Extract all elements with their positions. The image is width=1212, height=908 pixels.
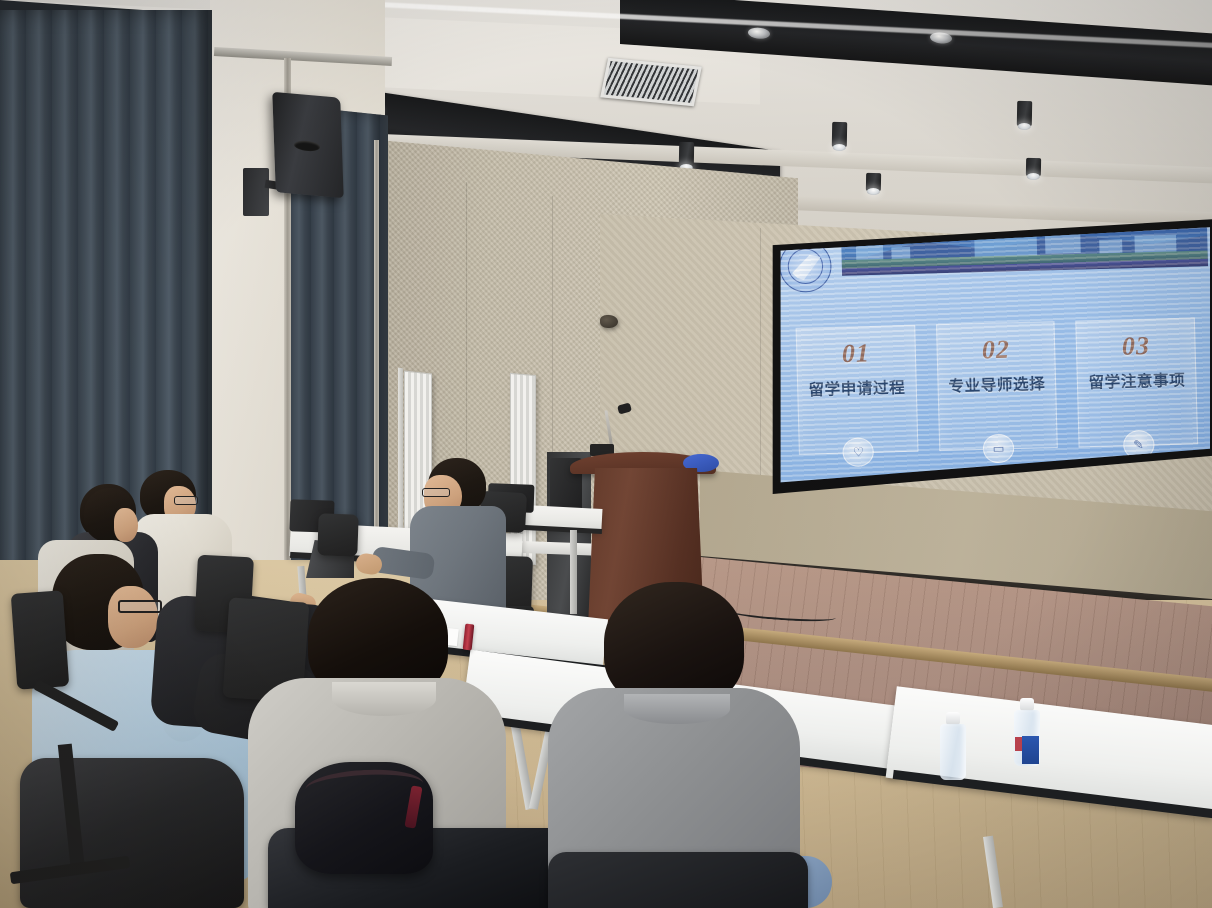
spotlight-icon	[832, 122, 847, 147]
agenda-card-number: 01	[797, 338, 915, 370]
agenda-card-badge-glyph: ▭	[992, 442, 1004, 455]
spotlight-icon	[679, 142, 694, 167]
glasses-icon	[422, 488, 450, 497]
face	[108, 586, 158, 648]
agenda-card-badge-glyph: ♡	[853, 446, 865, 459]
black-mesh-office-chair[interactable]	[317, 513, 358, 556]
black-mesh-office-chair-front[interactable]	[20, 758, 244, 908]
shield-check-icon: ♡	[843, 437, 875, 467]
air-vent-grille-icon	[600, 58, 702, 106]
wall-security-camera	[600, 315, 618, 328]
bottle-body	[1014, 710, 1040, 766]
black-mesh-office-chair-front[interactable]	[548, 852, 808, 908]
agenda-card-3[interactable]: 03 留学注意事项 ✎	[1076, 317, 1199, 447]
agenda-card-title: 专业导师选择	[938, 372, 1056, 397]
spotlight-icon	[1026, 158, 1041, 176]
bottle-label-accent	[1015, 737, 1022, 751]
speaker-mount-bracket	[243, 168, 269, 216]
building-shape	[1099, 239, 1122, 253]
table-leg	[570, 530, 577, 614]
agenda-card-number: 02	[937, 335, 1055, 367]
face	[114, 508, 138, 542]
agenda-card-badge-glyph: ✎	[1133, 438, 1144, 451]
black-mesh-office-chair[interactable]	[11, 590, 70, 689]
spotlight-icon	[866, 173, 881, 191]
conference-room-photo: 01 留学申请过程 ♡ 02 专业导师选择 ▭ 03 留学注意事项	[0, 0, 1212, 908]
spotlight-icon	[1017, 101, 1032, 126]
glasses-icon	[174, 496, 198, 505]
downlight-icon	[748, 27, 770, 40]
agenda-card-number: 03	[1077, 331, 1195, 363]
collar	[332, 682, 436, 716]
agenda-card-2[interactable]: 02 专业导师选择 ▭	[936, 321, 1059, 451]
building-shape	[1045, 234, 1081, 254]
agenda-card-title: 留学注意事项	[1078, 368, 1196, 393]
monitor-icon: ▭	[983, 434, 1015, 464]
glasses-icon	[118, 600, 162, 613]
bottle-body	[940, 724, 966, 780]
wall-mounted-loudspeaker	[272, 92, 343, 198]
agenda-card-1[interactable]: 01 留学申请过程 ♡	[796, 325, 919, 455]
emblem-swoosh-icon	[792, 254, 822, 280]
presentation-screen[interactable]: 01 留学申请过程 ♡ 02 专业导师选择 ▭ 03 留学注意事项	[778, 226, 1210, 485]
bottle-label	[1022, 736, 1039, 764]
agenda-card-title: 留学申请过程	[798, 376, 916, 401]
slide-agenda-cards: 01 留学申请过程 ♡ 02 专业导师选择 ▭ 03 留学注意事项	[796, 317, 1199, 454]
collar	[624, 694, 730, 724]
